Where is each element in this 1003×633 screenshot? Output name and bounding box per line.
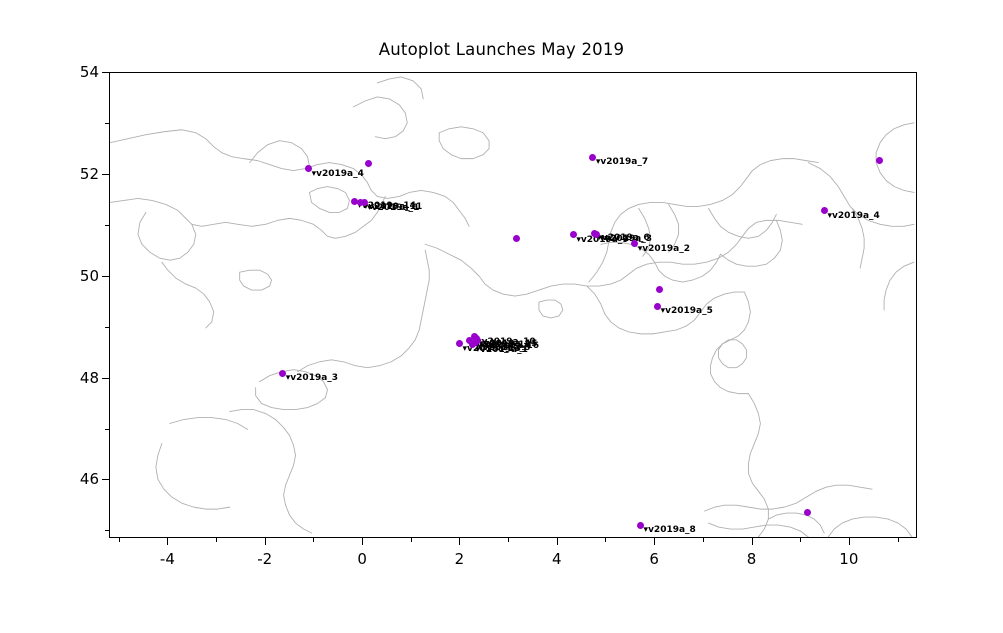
y-axis-minor-tick — [105, 530, 109, 531]
y-axis-tick-label: 46 — [57, 470, 99, 488]
x-axis-tick-label: 2 — [455, 550, 465, 568]
scatter-point-label: ▾v2019a_8 — [644, 526, 696, 535]
x-axis-tick — [362, 538, 363, 545]
scatter-point[interactable] — [513, 235, 520, 242]
y-axis-tick-label: 48 — [57, 369, 99, 387]
x-axis-tick — [752, 538, 753, 545]
scatter-point[interactable] — [804, 509, 811, 516]
x-axis-tick-label: -4 — [160, 550, 175, 568]
x-axis-minor-tick — [508, 538, 509, 542]
y-axis-tick — [102, 378, 109, 379]
figure-canvas: Autoplot Launches May 2019 — [0, 0, 1003, 633]
scatter-point-label: ▾v2019a_4 — [828, 212, 880, 221]
x-axis-tick — [654, 538, 655, 545]
scatter-markers-layer: ▾v2019a_4▾v2019a_14▾v2019a_11▾v2019a_1▾v… — [110, 73, 916, 537]
x-axis-minor-tick — [119, 538, 120, 542]
x-axis-tick — [849, 538, 850, 545]
x-axis-minor-tick — [216, 538, 217, 542]
x-axis-tick-label: -2 — [257, 550, 272, 568]
y-axis-tick-label: 50 — [57, 267, 99, 285]
y-axis-tick — [102, 479, 109, 480]
x-axis-minor-tick — [605, 538, 606, 542]
scatter-point-label: ▾v2019a_5 — [661, 307, 713, 316]
scatter-point[interactable] — [365, 160, 372, 167]
y-axis-minor-tick — [105, 327, 109, 328]
scatter-point-label: ▾v2019a_2 — [638, 245, 690, 254]
x-axis-tick — [265, 538, 266, 545]
x-axis-tick-label: 8 — [747, 550, 757, 568]
y-axis-tick — [102, 72, 109, 73]
x-axis-tick-label: 10 — [839, 550, 858, 568]
x-axis-minor-tick — [313, 538, 314, 542]
x-axis-tick-label: 4 — [552, 550, 562, 568]
y-axis-minor-tick — [105, 225, 109, 226]
x-axis-tick-label: 0 — [357, 550, 367, 568]
scatter-point[interactable] — [876, 157, 883, 164]
map-plot-area[interactable]: ▾v2019a_4▾v2019a_14▾v2019a_11▾v2019a_1▾v… — [109, 72, 917, 538]
x-axis-tick — [167, 538, 168, 545]
y-axis-minor-tick — [105, 429, 109, 430]
scatter-point-label: ▾v2019a_1 — [476, 346, 528, 355]
y-axis-tick-label: 54 — [57, 63, 99, 81]
x-axis-minor-tick — [411, 538, 412, 542]
scatter-point-label: ▾v2019a_3 — [286, 374, 338, 383]
x-axis-tick — [459, 538, 460, 545]
y-axis-minor-tick — [105, 123, 109, 124]
page-title: Autoplot Launches May 2019 — [0, 40, 1003, 59]
y-axis-tick-label: 52 — [57, 165, 99, 183]
y-axis-tick — [102, 174, 109, 175]
y-axis-tick — [102, 276, 109, 277]
x-axis-minor-tick — [703, 538, 704, 542]
x-axis-tick — [557, 538, 558, 545]
scatter-point-label: ▾v2019a_1 — [367, 204, 419, 213]
x-axis-minor-tick — [800, 538, 801, 542]
scatter-point-label: ▾v2019a_4 — [312, 170, 364, 179]
x-axis-minor-tick — [898, 538, 899, 542]
scatter-point[interactable] — [656, 286, 663, 293]
x-axis-tick-label: 6 — [649, 550, 659, 568]
scatter-point-label: ▾v2019a_7 — [596, 158, 648, 167]
